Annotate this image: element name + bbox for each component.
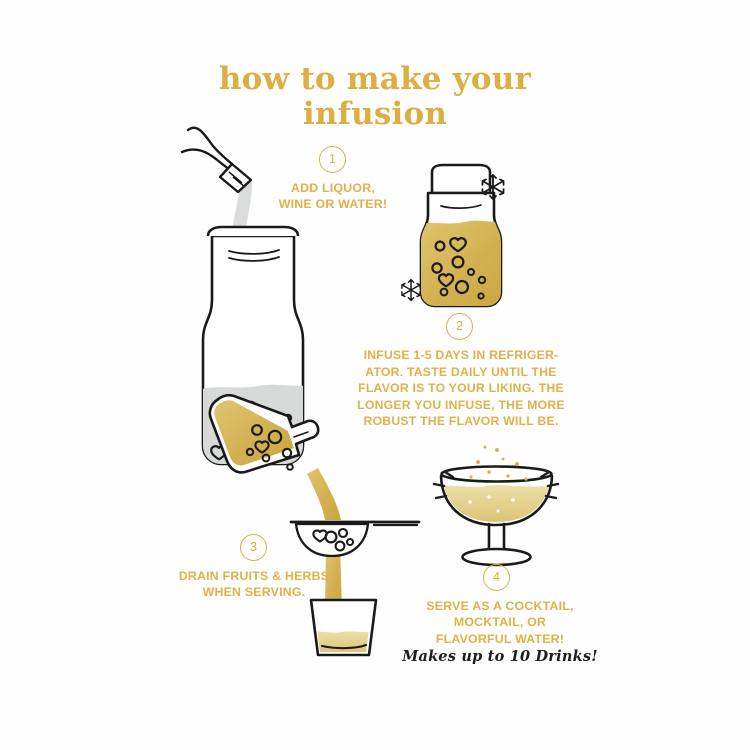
step-2-text: INFUSE 1-5 DAYS IN REFRIGER- ATOR. TASTE… <box>355 347 567 430</box>
step-4-text-line: FLAVORFUL WATER! <box>405 631 595 647</box>
step-4-text-line: MOCKTAIL, OR <box>405 614 595 630</box>
step-2-text-line: ROBUST THE FLAVOR WILL BE. <box>355 413 567 430</box>
step-3-text-line: DRAIN FRUITS & HERBS <box>163 568 345 584</box>
step-4-number-badge: 4 <box>483 564 510 591</box>
snowflake-icon <box>482 175 503 199</box>
sparkle-dots <box>469 446 527 481</box>
step-2-number-badge: 2 <box>446 313 473 340</box>
step-1-number-badge: 1 <box>319 146 346 173</box>
title-line-2: infusion <box>175 97 575 132</box>
step-4-text: SERVE AS A COCKTAIL, MOCKTAIL, OR FLAVOR… <box>405 598 595 647</box>
step-2-text-line: INFUSE 1-5 DAYS IN REFRIGER- <box>355 347 567 364</box>
infographic-canvas: how to make your infusion <box>0 0 750 750</box>
step-2-text-line: LONGER YOU INFUSE, THE MORE <box>355 397 567 414</box>
step-3-number-badge: 3 <box>240 534 267 561</box>
step-1-text-line: WINE OR WATER! <box>243 196 423 212</box>
step-2-text-line: ATOR. TASTE DAILY UNTIL THE <box>355 364 567 381</box>
step-1-text: ADD LIQUOR, WINE OR WATER! <box>243 180 423 213</box>
step-4-text-line: SERVE AS A COCKTAIL, <box>405 598 595 614</box>
step-1-text-line: ADD LIQUOR, <box>243 180 423 196</box>
footnote-makes-drinks: Makes up to 10 Drinks! <box>400 648 600 665</box>
sparkle-rays <box>434 472 558 498</box>
step-3-text: DRAIN FRUITS & HERBS WHEN SERVING. <box>163 568 345 601</box>
snowflake-icon <box>402 280 420 301</box>
step-3-illustration <box>210 395 419 660</box>
step-4-illustration <box>434 446 558 566</box>
title-line-1: how to make your <box>219 61 531 97</box>
step-3-text-line: WHEN SERVING. <box>163 584 345 600</box>
step-2-text-line: FLAVOR IS TO YOUR LIKING. THE <box>355 380 567 397</box>
page-title: how to make your infusion <box>175 62 575 131</box>
